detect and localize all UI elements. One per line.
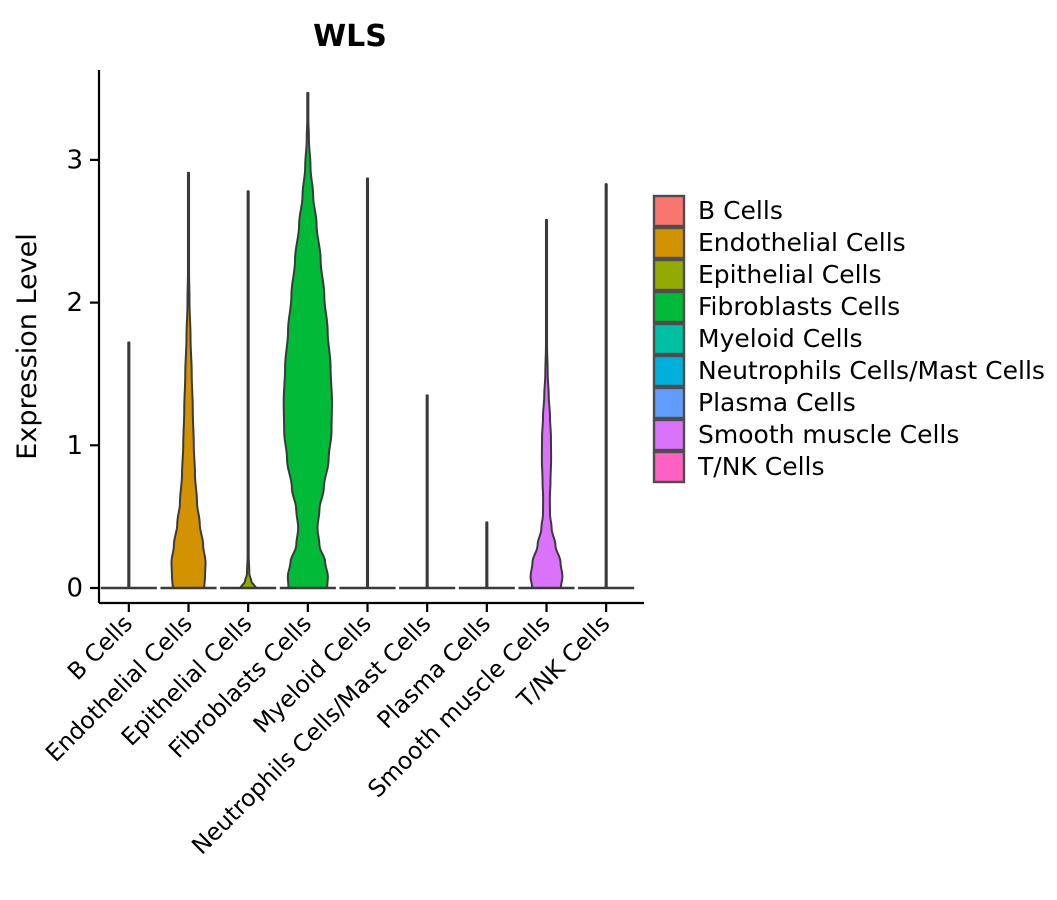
violin-epithelial-cells[interactable]: Epithelial Cells bbox=[240, 191, 256, 588]
legend-swatch[interactable] bbox=[654, 196, 684, 226]
legend-label: Plasma Cells bbox=[698, 388, 856, 417]
legend-label: Endothelial Cells bbox=[698, 228, 906, 257]
y-tick-label: 2 bbox=[66, 288, 83, 318]
violins-group: B CellsEndothelial CellsEpithelial Cells… bbox=[101, 93, 634, 588]
legend-label: Smooth muscle Cells bbox=[698, 420, 959, 449]
y-axis-title: Expression Level bbox=[12, 233, 43, 459]
legend-swatch[interactable] bbox=[654, 388, 684, 418]
legend-item[interactable]: Fibroblasts Cells bbox=[654, 292, 900, 322]
y-tick-label: 0 bbox=[66, 574, 83, 604]
page-title: WLS bbox=[313, 19, 387, 54]
y-tick-label: 3 bbox=[66, 145, 83, 175]
legend-swatch[interactable] bbox=[654, 260, 684, 290]
legend-item[interactable]: Endothelial Cells bbox=[654, 228, 906, 258]
y-tick-label: 1 bbox=[66, 431, 83, 461]
legend-swatch[interactable] bbox=[654, 324, 684, 354]
legend-item[interactable]: B Cells bbox=[654, 196, 783, 226]
violin-b-cells[interactable]: B Cells bbox=[128, 343, 129, 588]
legend-swatch[interactable] bbox=[654, 452, 684, 482]
violin-smooth-muscle-cells[interactable]: Smooth muscle Cells bbox=[531, 220, 563, 588]
violin-endothelial-cells[interactable]: Endothelial Cells bbox=[172, 173, 206, 588]
legend-label: T/NK Cells bbox=[697, 452, 825, 481]
legend-label: Fibroblasts Cells bbox=[698, 292, 900, 321]
legend-swatch[interactable] bbox=[654, 292, 684, 322]
legend-item[interactable]: Neutrophils Cells/Mast Cells bbox=[654, 356, 1045, 386]
legend-label: Myeloid Cells bbox=[698, 324, 863, 353]
violin-fibroblasts-cells[interactable]: Fibroblasts Cells bbox=[284, 93, 332, 588]
legend-swatch[interactable] bbox=[654, 420, 684, 450]
legend-label: Epithelial Cells bbox=[698, 260, 882, 289]
legend-swatch[interactable] bbox=[654, 228, 684, 258]
violin-plot-svg: WLSB CellsEndothelial CellsEpithelial Ce… bbox=[0, 0, 1057, 900]
legend: B CellsEndothelial CellsEpithelial Cells… bbox=[654, 196, 1045, 482]
legend-item[interactable]: T/NK Cells bbox=[654, 452, 825, 482]
violin-plot-figure: WLSB CellsEndothelial CellsEpithelial Ce… bbox=[0, 0, 1057, 900]
legend-label: Neutrophils Cells/Mast Cells bbox=[698, 356, 1045, 385]
legend-item[interactable]: Myeloid Cells bbox=[654, 324, 863, 354]
legend-swatch[interactable] bbox=[654, 356, 684, 386]
legend-label: B Cells bbox=[698, 196, 783, 225]
legend-item[interactable]: Epithelial Cells bbox=[654, 260, 882, 290]
violin-neutrophils-cells-mast-cells[interactable]: Neutrophils Cells/Mast Cells bbox=[427, 395, 428, 588]
legend-item[interactable]: Smooth muscle Cells bbox=[654, 420, 959, 450]
violin-myeloid-cells[interactable]: Myeloid Cells bbox=[367, 178, 368, 588]
legend-item[interactable]: Plasma Cells bbox=[654, 388, 856, 418]
violin-t-nk-cells[interactable]: T/NK Cells bbox=[606, 184, 607, 588]
violin-plasma-cells[interactable]: Plasma Cells bbox=[486, 522, 487, 588]
